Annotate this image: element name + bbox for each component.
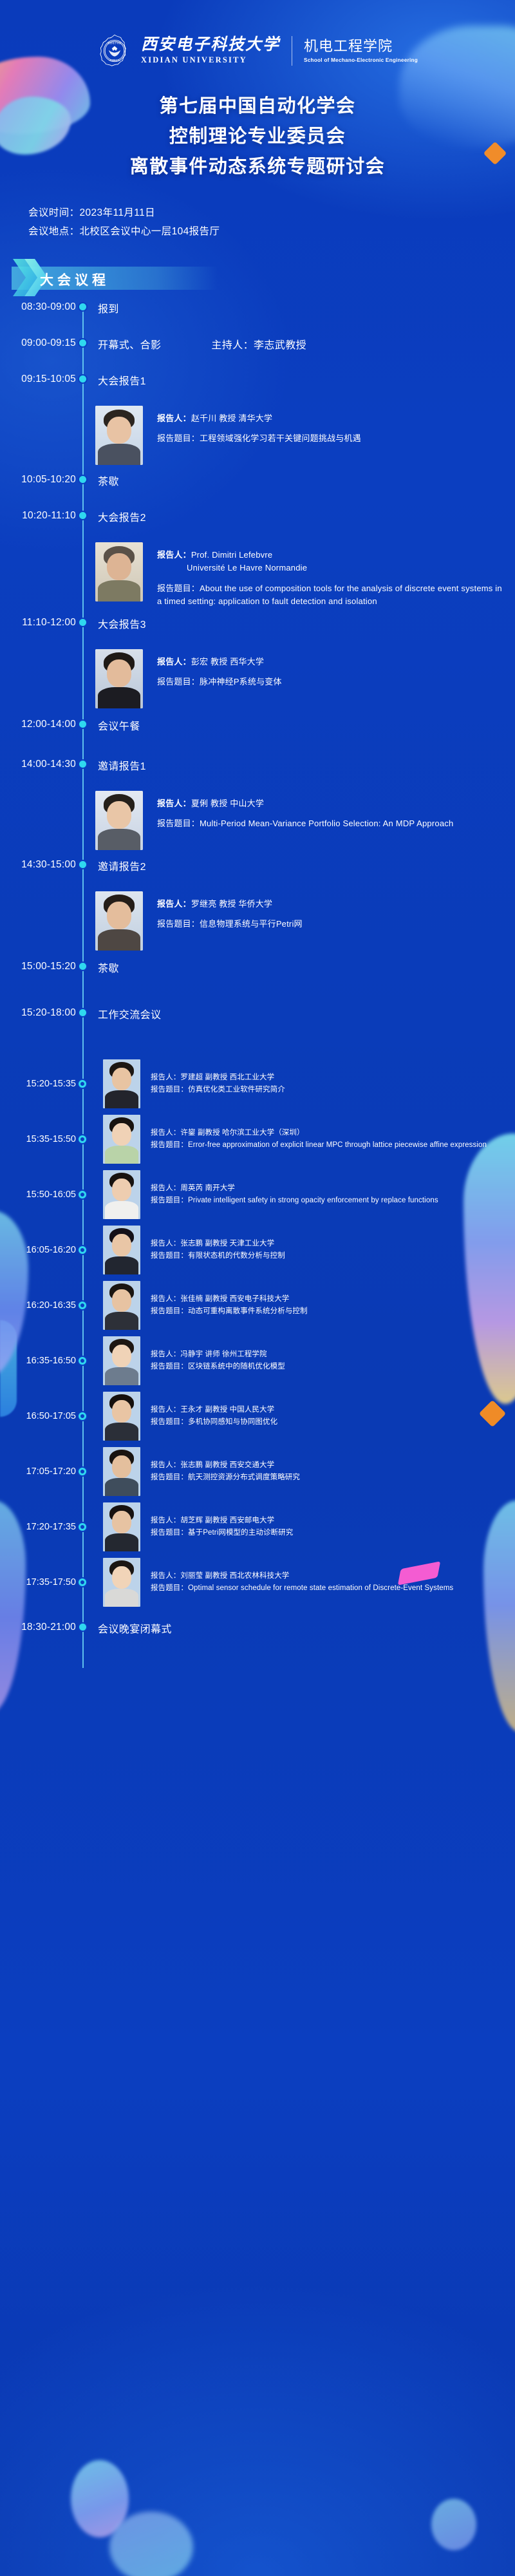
- workshop-speaker-photo: [103, 1226, 140, 1274]
- speaker-name: 冯静宇 讲师 徐州工程学院: [180, 1350, 267, 1358]
- timeline-dot-cell: [76, 1620, 89, 1631]
- workshop-speaker-line: 报告人：罗建超 副教授 西北工业大学: [151, 1072, 506, 1083]
- talk-title: 有限状态机的代数分析与控制: [188, 1252, 285, 1260]
- workshop-text: 报告人：刘丽莹 副教授 西北农林科技大学 报告题目：Optimal sensor…: [140, 1570, 515, 1594]
- agenda-row: 08:30-09:00 报到: [0, 300, 515, 328]
- talk-title-label: 报告题目：: [151, 1584, 188, 1592]
- workshop-speaker-line: 报告人：冯静宇 讲师 徐州工程学院: [151, 1349, 506, 1360]
- svg-text:XIDIAN: XIDIAN: [109, 59, 120, 62]
- workshop-text: 报告人：周英芮 南开大学 报告题目：Private intelligent sa…: [140, 1182, 515, 1206]
- agenda-banner-text: 大会议程: [40, 270, 109, 289]
- workshop-title-line: 报告题目：多机协同感知与协同图优化: [151, 1416, 506, 1428]
- workshop-speaker-line: 报告人：胡芝辉 副教授 西安邮电大学: [151, 1515, 506, 1526]
- speaker-label: 报告人：: [151, 1517, 180, 1524]
- speaker-text: 报告人：Prof. Dimitri Lefebvre Université Le…: [157, 542, 503, 608]
- timeline-dot-cell: [76, 1080, 89, 1088]
- speaker-name: 胡芝辉 副教授 西安邮电大学: [180, 1517, 274, 1524]
- title-line-2: 控制理论专业委员会: [0, 122, 515, 152]
- agenda-row: 14:30-15:00 邀请报告2: [0, 858, 515, 886]
- timeline-dot-icon: [79, 1357, 86, 1365]
- workshop-speaker-line: 报告人：许鋆 副教授 哈尔滨工业大学（深圳）: [151, 1127, 506, 1139]
- timeline-dot-cell: [76, 960, 89, 970]
- agenda-time: 09:15-10:05: [0, 372, 76, 385]
- speaker-name: 王永才 副教授 中国人民大学: [180, 1406, 274, 1414]
- workshop-time: 17:05-17:20: [0, 1466, 76, 1477]
- workshop-text: 报告人：张志鹏 副教授 天津工业大学 报告题目：有限状态机的代数分析与控制: [140, 1238, 515, 1262]
- workshop-speaker-photo: [103, 1059, 140, 1108]
- speaker-text: 报告人：彭宏 教授 西华大学 报告题目：脉冲神经P系统与变体: [157, 649, 503, 708]
- talk-title: Private intelligent safety in strong opa…: [188, 1197, 438, 1204]
- speaker-label: 报告人：: [151, 1184, 180, 1192]
- gradient-blob-bottom-3: [431, 2499, 476, 2550]
- timeline-dot-cell: [76, 1191, 89, 1198]
- speaker-affiliation: Université Le Havre Normandie: [187, 563, 307, 573]
- agenda-time: 09:00-09:15: [0, 336, 76, 349]
- speaker-name: 刘丽莹 副教授 西北农林科技大学: [180, 1572, 289, 1580]
- speaker-photo: [95, 542, 143, 601]
- speaker-name: 罗建超 副教授 西北工业大学: [180, 1074, 274, 1081]
- agenda-host: 主持人：李志武教授: [211, 336, 306, 352]
- agenda-time: 14:00-14:30: [0, 757, 76, 770]
- timeline-dot-icon: [79, 339, 86, 346]
- speaker-label: 报告人：: [151, 1350, 180, 1358]
- timeline-dot-cell: [76, 757, 89, 768]
- workshop-row: 16:50-17:05 报告人：王永才 副教授 中国人民大学 报告题目：多机协同…: [0, 1388, 515, 1444]
- speaker-name: 彭宏 教授 西华大学: [191, 657, 264, 667]
- workshop-text: 报告人：张佳楠 副教授 西安电子科技大学 报告题目：动态可重构离散事件系统分析与…: [140, 1293, 515, 1317]
- timeline-dot-cell: [76, 1135, 89, 1143]
- talk-title-label: 报告题目：: [151, 1307, 188, 1315]
- workshop-row: 15:35-15:50 报告人：许鋆 副教授 哈尔滨工业大学（深圳） 报告题目：…: [0, 1112, 515, 1167]
- workshop-row: 16:05-16:20 报告人：张志鹏 副教授 天津工业大学 报告题目：有限状态…: [0, 1222, 515, 1278]
- talk-title: 信息物理系统与平行Petri网: [200, 919, 303, 929]
- gradient-blob-bottom-2: [109, 2512, 193, 2576]
- talk-title-label: 报告题目：: [151, 1418, 188, 1426]
- agenda-row: 14:00-14:30 邀请报告1: [0, 757, 515, 786]
- agenda-label: 会议午餐: [89, 717, 140, 733]
- timeline-dot-cell: [76, 372, 89, 383]
- speaker-label: 报告人：: [151, 1295, 180, 1303]
- timeline-dot-icon: [79, 1412, 86, 1420]
- timeline-dot-icon: [79, 1624, 86, 1631]
- workshop-row: 17:20-17:35 报告人：胡芝辉 副教授 西安邮电大学 报告题目：基于Pe…: [0, 1499, 515, 1555]
- logo-divider: [292, 36, 292, 66]
- workshop-speaker-line: 报告人：张志鹏 副教授 西安交通大学: [151, 1459, 506, 1471]
- speaker-label: 报告人：: [151, 1129, 180, 1137]
- speaker-name: 周英芮 南开大学: [180, 1184, 235, 1192]
- agenda-row: 09:00-09:15 开幕式、合影 主持人：李志武教授: [0, 336, 515, 365]
- talk-title: About the use of composition tools for t…: [157, 583, 502, 606]
- timeline-dot-cell: [76, 1578, 89, 1586]
- university-name-en: XIDIAN UNIVERSITY: [141, 55, 247, 65]
- footer-space: [0, 1674, 515, 1771]
- agenda-label: 邀请报告1: [89, 757, 146, 773]
- timeline-dot-cell: [76, 1302, 89, 1309]
- title-line-1: 第七届中国自动化学会: [0, 91, 515, 122]
- speaker-name-line: 报告人：Prof. Dimitri Lefebvre: [157, 549, 503, 562]
- speaker-name-line: 报告人：赵千川 教授 清华大学: [157, 412, 503, 425]
- workshop-speaker-photo: [103, 1502, 140, 1551]
- timeline-dot-cell: [76, 616, 89, 626]
- speaker-card: 报告人：夏俐 教授 中山大学 报告题目：Multi-Period Mean-Va…: [95, 791, 515, 850]
- talk-title-label: 报告题目：: [151, 1141, 188, 1149]
- workshop-time: 16:20-16:35: [0, 1300, 76, 1311]
- timeline-dot-cell: [76, 473, 89, 483]
- talk-title-label: 报告题目：: [157, 583, 200, 593]
- speaker-name-line: 报告人：彭宏 教授 西华大学: [157, 656, 503, 668]
- speaker-card: 报告人：彭宏 教授 西华大学 报告题目：脉冲神经P系统与变体: [95, 649, 515, 708]
- agenda-row: 10:20-11:10 大会报告2: [0, 509, 515, 537]
- workshop-time: 15:35-15:50: [0, 1134, 76, 1144]
- agenda-row: 10:05-10:20 茶歇: [0, 473, 515, 501]
- agenda-time: 08:30-09:00: [0, 300, 76, 313]
- speaker-photo: [95, 649, 143, 708]
- talk-title-label: 报告题目：: [151, 1473, 188, 1481]
- timeline-dot-cell: [76, 1357, 89, 1365]
- speaker-affiliation-line: Université Le Havre Normandie: [157, 562, 503, 574]
- talk-title: 动态可重构离散事件系统分析与控制: [188, 1307, 308, 1315]
- agenda-time: 18:30-21:00: [0, 1620, 76, 1633]
- agenda-time: 14:30-15:00: [0, 858, 76, 871]
- speaker-name: 赵千川 教授 清华大学: [191, 413, 272, 423]
- workshop-text: 报告人：许鋆 副教授 哈尔滨工业大学（深圳） 报告题目：Error-free a…: [140, 1127, 515, 1151]
- timeline-dot-icon: [79, 619, 86, 626]
- talk-title: 仿真优化类工业软件研究简介: [188, 1086, 285, 1094]
- xidian-university-seal-icon: XIDIAN 西安电子科技: [97, 33, 132, 68]
- school-name-cn: 机电工程学院: [304, 39, 393, 54]
- timeline-dot-icon: [79, 375, 86, 383]
- talk-title-line: 报告题目：Multi-Period Mean-Variance Portfoli…: [157, 817, 503, 830]
- title-line-3: 离散事件动态系统专题研讨会: [0, 152, 515, 182]
- agenda-row: 15:20-18:00 工作交流会议: [0, 1006, 515, 1034]
- workshop-text: 报告人：张志鹏 副教授 西安交通大学 报告题目：航天测控资源分布式调度策略研究: [140, 1459, 515, 1483]
- talk-title-label: 报告题目：: [157, 919, 200, 929]
- speaker-name-line: 报告人：罗继亮 教授 华侨大学: [157, 898, 503, 911]
- talk-title: 航天测控资源分布式调度策略研究: [188, 1473, 300, 1481]
- workshop-time: 17:35-17:50: [0, 1577, 76, 1587]
- talk-title-label: 报告题目：: [151, 1252, 188, 1260]
- timeline-dot-icon: [79, 761, 86, 768]
- speaker-name: 张志鹏 副教授 西安交通大学: [180, 1461, 274, 1469]
- timeline-dot-icon: [79, 1302, 86, 1309]
- agenda-row: 11:10-12:00 大会报告3: [0, 616, 515, 644]
- workshop-speaker-line: 报告人：张佳楠 副教授 西安电子科技大学: [151, 1293, 506, 1305]
- workshop-speaker-photo: [103, 1392, 140, 1441]
- workshop-speaker-line: 报告人：周英芮 南开大学: [151, 1182, 506, 1194]
- meeting-time: 会议时间：2023年11月11日: [28, 204, 515, 223]
- meeting-place: 会议地点：北校区会议中心一层104报告厅: [28, 223, 515, 241]
- timeline-dot-cell: [76, 336, 89, 346]
- talk-title-label: 报告题目：: [157, 433, 200, 443]
- talk-title-line: 报告题目：工程领域强化学习若干关键问题挑战与机遇: [157, 432, 503, 445]
- talk-title: 脉冲神经P系统与变体: [200, 677, 282, 687]
- talk-title-line: 报告题目：脉冲神经P系统与变体: [157, 676, 503, 688]
- timeline-dot-cell: [76, 1412, 89, 1420]
- talk-title-line: 报告题目：信息物理系统与平行Petri网: [157, 918, 503, 931]
- timeline-dot-cell: [76, 858, 89, 868]
- agenda-label: 茶歇: [89, 960, 119, 975]
- speaker-name-line: 报告人：夏俐 教授 中山大学: [157, 797, 503, 810]
- talk-title-label: 报告题目：: [151, 1529, 188, 1537]
- speaker-name: 罗继亮 教授 华侨大学: [191, 899, 272, 909]
- agenda-time: 10:20-11:10: [0, 509, 76, 522]
- workshop-row: 17:35-17:50 报告人：刘丽莹 副教授 西北农林科技大学 报告题目：Op…: [0, 1555, 515, 1610]
- timeline-dot-cell: [76, 1523, 89, 1531]
- workshop-title-line: 报告题目：仿真优化类工业软件研究简介: [151, 1084, 506, 1095]
- timeline-dot-icon: [79, 721, 86, 728]
- poster-page: XIDIAN 西安电子科技 西安电子科技大学 XIDIAN UNIVERSITY…: [0, 0, 515, 1771]
- workshop-title-line: 报告题目：基于Petri网模型的主动诊断研究: [151, 1527, 506, 1539]
- talk-title: Optimal sensor schedule for remote state…: [188, 1584, 453, 1592]
- speaker-photo: [95, 406, 143, 465]
- speaker-name: 许鋆 副教授 哈尔滨工业大学（深圳）: [180, 1129, 304, 1137]
- workshop-time: 16:35-16:50: [0, 1356, 76, 1366]
- agenda-label: 大会报告2: [89, 509, 146, 524]
- talk-title-label: 报告题目：: [157, 819, 200, 828]
- speaker-name: 张志鹏 副教授 天津工业大学: [180, 1240, 274, 1247]
- talk-title-label: 报告题目：: [151, 1197, 188, 1204]
- agenda-row: 15:00-15:20 茶歇: [0, 960, 515, 988]
- workshop-title-line: 报告题目：Optimal sensor schedule for remote …: [151, 1582, 506, 1594]
- speaker-label: 报告人：: [151, 1406, 180, 1414]
- workshop-time: 16:50-17:05: [0, 1411, 76, 1421]
- speaker-name: 夏俐 教授 中山大学: [191, 799, 264, 808]
- workshop-speaker-photo: [103, 1281, 140, 1330]
- poster-title: 第七届中国自动化学会 控制理论专业委员会 离散事件动态系统专题研讨会: [0, 91, 515, 182]
- speaker-label: 报告人：: [151, 1074, 180, 1081]
- workshop-row: 16:35-16:50 报告人：冯静宇 讲师 徐州工程学院 报告题目：区块链系统…: [0, 1333, 515, 1388]
- speaker-photo: [95, 791, 143, 850]
- timeline-dot-cell: [76, 1006, 89, 1016]
- timeline-dot-icon: [79, 512, 86, 519]
- workshop-speaker-line: 报告人：刘丽莹 副教授 西北农林科技大学: [151, 1570, 506, 1582]
- timeline-dot-icon: [79, 1009, 86, 1016]
- workshop-text: 报告人：冯静宇 讲师 徐州工程学院 报告题目：区块链系统中的随机优化模型: [140, 1349, 515, 1372]
- agenda-label: 报到: [89, 300, 119, 316]
- talk-title: 基于Petri网模型的主动诊断研究: [188, 1529, 293, 1537]
- agenda-time: 11:10-12:00: [0, 616, 76, 629]
- agenda-time: 15:20-18:00: [0, 1006, 76, 1019]
- workshop-time: 15:50-16:05: [0, 1189, 76, 1200]
- agenda-label: 大会报告3: [89, 616, 146, 631]
- timeline-dot-cell: [76, 509, 89, 519]
- timeline-dot-icon: [79, 476, 86, 483]
- speaker-label: 报告人：: [151, 1240, 180, 1247]
- university-name-cn: 西安电子科技大学: [141, 37, 280, 53]
- timeline-dot-cell: [76, 1246, 89, 1254]
- agenda-label: 茶歇: [89, 473, 119, 488]
- university-name-block: 西安电子科技大学 XIDIAN UNIVERSITY: [141, 37, 280, 65]
- agenda-label: 大会报告1: [89, 372, 146, 388]
- speaker-label: 报告人：: [157, 799, 191, 808]
- talk-title: 区块链系统中的随机优化模型: [188, 1363, 285, 1370]
- workshop-title-line: 报告题目：有限状态机的代数分析与控制: [151, 1250, 506, 1262]
- speaker-name: Prof. Dimitri Lefebvre: [191, 550, 273, 560]
- talk-title-line: 报告题目：About the use of composition tools …: [157, 582, 503, 608]
- workshop-speaker-line: 报告人：张志鹏 副教授 天津工业大学: [151, 1238, 506, 1249]
- workshop-speaker-photo: [103, 1170, 140, 1219]
- speaker-label: 报告人：: [157, 413, 191, 423]
- timeline-dot-cell: [76, 717, 89, 728]
- workshop-speaker-photo: [103, 1115, 140, 1164]
- speaker-text: 报告人：罗继亮 教授 华侨大学 报告题目：信息物理系统与平行Petri网: [157, 891, 503, 951]
- timeline-dot-icon: [79, 1191, 86, 1198]
- agenda-time: 12:00-14:00: [0, 717, 76, 730]
- agenda-timeline: 08:30-09:00 报到 09:00-09:15 开幕式、合影 主持人：李志…: [0, 300, 515, 1674]
- agenda-row: 09:15-10:05 大会报告1: [0, 372, 515, 401]
- speaker-label: 报告人：: [157, 657, 191, 667]
- workshop-title-line: 报告题目：航天测控资源分布式调度策略研究: [151, 1472, 506, 1483]
- agenda-time: 15:00-15:20: [0, 960, 76, 972]
- workshop-title-line: 报告题目：区块链系统中的随机优化模型: [151, 1361, 506, 1372]
- timeline-dot-icon: [79, 1578, 86, 1586]
- agenda-label-group: 开幕式、合影 主持人：李志武教授: [89, 336, 306, 352]
- talk-title-label: 报告题目：: [151, 1363, 188, 1370]
- agenda-label: 邀请报告2: [89, 858, 146, 873]
- agenda-time: 10:05-10:20: [0, 473, 76, 486]
- agenda-row: 12:00-14:00 会议午餐: [0, 717, 515, 746]
- workshop-title-line: 报告题目：动态可重构离散事件系统分析与控制: [151, 1305, 506, 1317]
- agenda-row: 18:30-21:00 会议晚宴闭幕式: [0, 1620, 515, 1649]
- timeline-dot-icon: [79, 1523, 86, 1531]
- institution-logo-bar: XIDIAN 西安电子科技 西安电子科技大学 XIDIAN UNIVERSITY…: [0, 0, 515, 72]
- svg-text:西安电子科技: 西安电子科技: [108, 41, 122, 44]
- workshop-row: 16:20-16:35 报告人：张佳楠 副教授 西安电子科技大学 报告题目：动态…: [0, 1278, 515, 1333]
- talk-title: Multi-Period Mean-Variance Portfolio Sel…: [200, 819, 453, 828]
- workshop-title-line: 报告题目：Error-free approximation of explici…: [151, 1139, 506, 1151]
- school-name-en: School of Mechano-Electronic Engineering: [304, 57, 418, 63]
- talk-title: 多机协同感知与协同图优化: [188, 1418, 277, 1426]
- workshop-speaker-line: 报告人：王永才 副教授 中国人民大学: [151, 1404, 506, 1416]
- workshop-row: 15:20-15:35 报告人：罗建超 副教授 西北工业大学 报告题目：仿真优化…: [0, 1056, 515, 1112]
- workshop-row: 15:50-16:05 报告人：周英芮 南开大学 报告题目：Private in…: [0, 1167, 515, 1222]
- timeline-dot-icon: [79, 1080, 86, 1088]
- speaker-label: 报告人：: [151, 1572, 180, 1580]
- workshop-speaker-photo: [103, 1336, 140, 1385]
- workshop-text: 报告人：胡芝辉 副教授 西安邮电大学 报告题目：基于Petri网模型的主动诊断研…: [140, 1515, 515, 1539]
- talk-title: 工程领域强化学习若干关键问题挑战与机遇: [200, 433, 361, 443]
- talk-title: Error-free approximation of explicit lin…: [188, 1141, 487, 1149]
- talk-title-label: 报告题目：: [151, 1086, 188, 1094]
- speaker-label: 报告人：: [157, 550, 191, 560]
- speaker-text: 报告人：赵千川 教授 清华大学 报告题目：工程领域强化学习若干关键问题挑战与机遇: [157, 406, 503, 465]
- agenda-label: 开幕式、合影: [98, 336, 161, 352]
- timeline-dot-cell: [76, 1468, 89, 1475]
- speaker-text: 报告人：夏俐 教授 中山大学 报告题目：Multi-Period Mean-Va…: [157, 791, 503, 850]
- speaker-card: 报告人：赵千川 教授 清华大学 报告题目：工程领域强化学习若干关键问题挑战与机遇: [95, 406, 515, 465]
- timeline-dot-icon: [79, 861, 86, 868]
- agenda-label: 工作交流会议: [89, 1006, 161, 1021]
- speaker-name: 张佳楠 副教授 西安电子科技大学: [180, 1295, 289, 1303]
- workshop-speaker-photo: [103, 1558, 140, 1607]
- workshop-row: 17:05-17:20 报告人：张志鹏 副教授 西安交通大学 报告题目：航天测控…: [0, 1444, 515, 1499]
- speaker-label: 报告人：: [151, 1461, 180, 1469]
- timeline-dot-icon: [79, 1135, 86, 1143]
- speaker-card: 报告人：罗继亮 教授 华侨大学 报告题目：信息物理系统与平行Petri网: [95, 891, 515, 951]
- workshop-time: 17:20-17:35: [0, 1522, 76, 1532]
- speaker-label: 报告人：: [157, 899, 191, 909]
- workshop-title-line: 报告题目：Private intelligent safety in stron…: [151, 1195, 506, 1206]
- timeline-dot-icon: [79, 963, 86, 970]
- timeline-dot-icon: [79, 1468, 86, 1475]
- workshop-time: 15:20-15:35: [0, 1079, 76, 1089]
- speaker-photo: [95, 891, 143, 951]
- timeline-dot-cell: [76, 300, 89, 310]
- timeline-dot-icon: [79, 303, 86, 310]
- workshop-text: 报告人：罗建超 副教授 西北工业大学 报告题目：仿真优化类工业软件研究简介: [140, 1072, 515, 1095]
- workshop-speaker-photo: [103, 1447, 140, 1496]
- agenda-label: 会议晚宴闭幕式: [89, 1620, 172, 1636]
- workshop-text: 报告人：王永才 副教授 中国人民大学 报告题目：多机协同感知与协同图优化: [140, 1404, 515, 1428]
- speaker-card: 报告人：Prof. Dimitri Lefebvre Université Le…: [95, 542, 515, 608]
- agenda-banner: 大会议程: [0, 263, 515, 294]
- meeting-info: 会议时间：2023年11月11日 会议地点：北校区会议中心一层104报告厅: [28, 204, 515, 241]
- workshop-time: 16:05-16:20: [0, 1245, 76, 1255]
- school-name-block: 机电工程学院 School of Mechano-Electronic Engi…: [304, 39, 418, 62]
- timeline-dot-icon: [79, 1246, 86, 1254]
- talk-title-label: 报告题目：: [157, 677, 200, 687]
